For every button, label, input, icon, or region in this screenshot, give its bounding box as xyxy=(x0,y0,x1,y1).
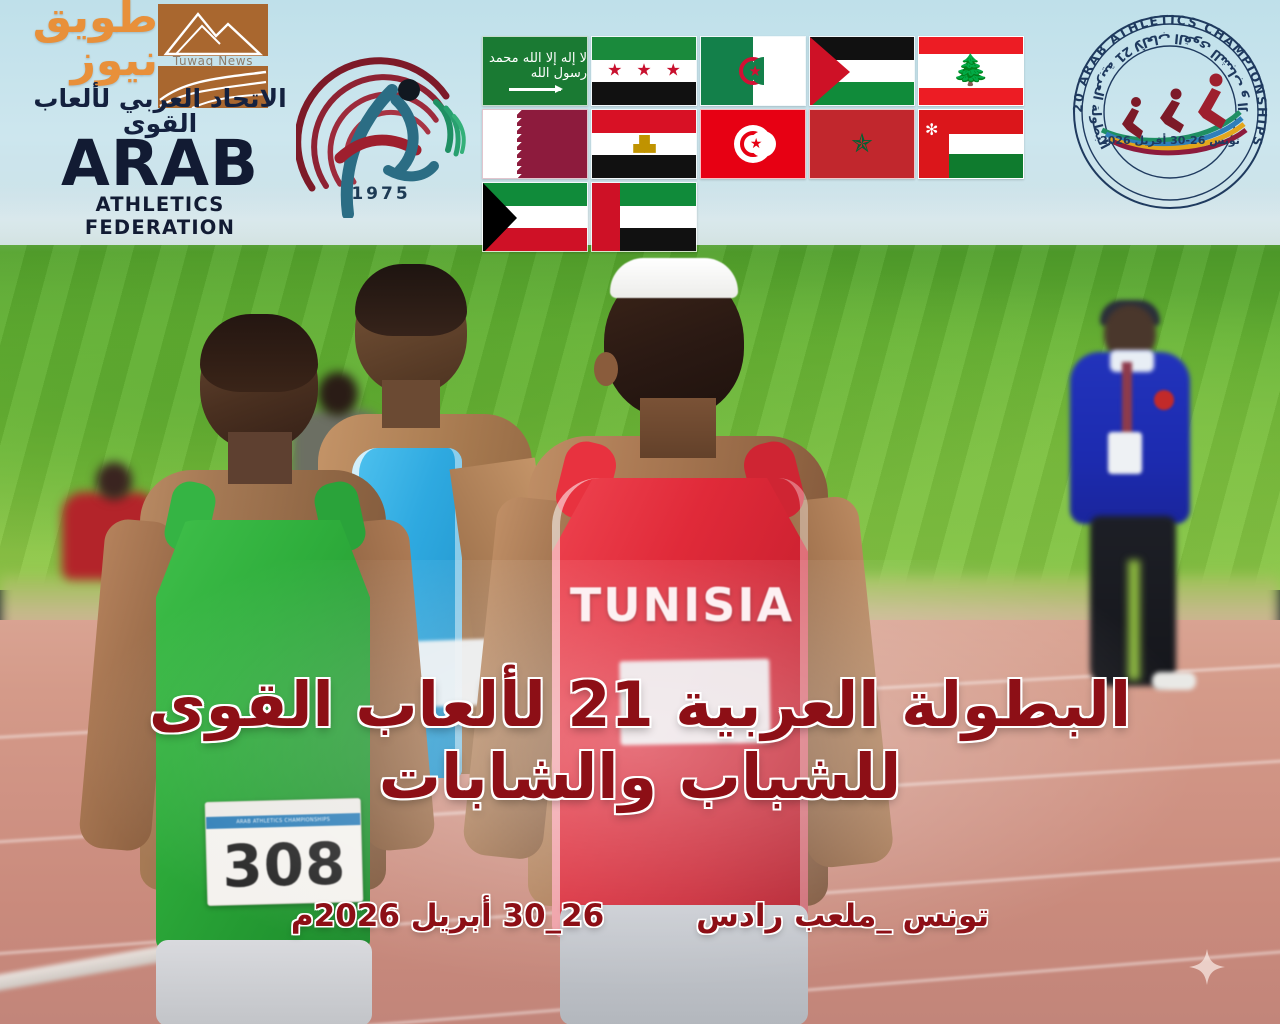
event-dates: 26_30 أبريل 2026م xyxy=(291,898,604,934)
championship-poster: EGYPT ARAB ATHLETICS CHAMPIONSHIPS 308 T… xyxy=(0,0,1280,1024)
athlete-tunisia-ear xyxy=(594,352,618,386)
flag-qatar-serration xyxy=(511,110,525,178)
roundel-center-date: تونس 26-30 أفريل 2026 xyxy=(1064,134,1276,147)
sparkle-star-icon xyxy=(1188,948,1226,986)
event-details: تونس _ملعب رادس 26_30 أبريل 2026م xyxy=(0,898,1280,934)
flag-syria-stars: ★★★ xyxy=(592,63,696,80)
flag-morocco-pentagram: ✯ xyxy=(851,131,873,157)
poster-title-line1: البطولة العربية 21 لألعاب القوى xyxy=(0,672,1280,738)
cedar-tree-icon: 🌲 xyxy=(952,56,989,86)
athlete-swoosh-icon: 1975 xyxy=(296,38,466,218)
championship-roundel-logo: U20 ARAB ATHLETICS CHAMPIONSHIPS البطولة… xyxy=(1064,6,1276,218)
flag-egypt: ▟▙ xyxy=(591,109,697,179)
athlete-green-neck xyxy=(228,432,292,484)
official-leg-gap xyxy=(1128,560,1140,680)
flag-row: ▟▙ ★ ✯ ✻ xyxy=(482,109,1036,179)
flag-algeria-star: ★ xyxy=(748,62,761,80)
athlete-egypt-neck xyxy=(382,380,440,428)
roundel-svg: U20 ARAB ATHLETICS CHAMPIONSHIPS البطولة… xyxy=(1064,6,1276,218)
flag-kuwait-trapezoid xyxy=(483,183,517,252)
athlete-green-hair xyxy=(200,314,318,392)
flag-saudi-sword xyxy=(509,88,561,91)
flag-oman: ✻ xyxy=(918,109,1024,179)
flag-saudi-arabia: لا إله إلا الله محمد رسول الله xyxy=(482,36,588,106)
federation-english-name: ARAB xyxy=(18,137,302,191)
mountain-icon xyxy=(158,4,268,56)
brand-arabic-line2: نيوز xyxy=(8,39,158,84)
mountain-icon-svg xyxy=(158,4,268,56)
race-bib-number-panel: ARAB ATHLETICS CHAMPIONSHIPS 308 xyxy=(205,798,364,906)
federation-founding-year: 1975 xyxy=(296,184,466,204)
bib-number: 308 xyxy=(206,825,362,905)
athlete-tunisia-headband xyxy=(610,258,738,298)
brand-latin-label: Tuwaq News xyxy=(158,54,268,70)
participating-nations-flags: لا إله إلا الله محمد رسول الله ★★★ ★ xyxy=(482,36,1036,255)
athlete-tunisia-country-label: TUNISIA xyxy=(560,578,804,632)
seated-spectator xyxy=(96,462,132,500)
event-venue: تونس _ملعب رادس xyxy=(696,898,989,934)
flag-lebanon: 🌲 xyxy=(918,36,1024,106)
flag-morocco: ✯ xyxy=(809,109,915,179)
poster-title-line2: للشباب والشابات xyxy=(0,744,1280,810)
official-badge-emblem xyxy=(1154,390,1174,410)
bib-event-text: ARAB ATHLETICS CHAMPIONSHIPS xyxy=(236,817,330,825)
flag-syria: ★★★ xyxy=(591,36,697,106)
poster-title: البطولة العربية 21 لألعاب القوى للشباب و… xyxy=(0,672,1280,809)
khanjar-icon: ✻ xyxy=(925,120,938,139)
official-lanyard xyxy=(1122,362,1132,436)
flag-tunisia-star: ★ xyxy=(750,136,763,152)
flag-row: لا إله إلا الله محمد رسول الله ★★★ ★ xyxy=(482,36,1036,106)
athlete-egypt-hair xyxy=(355,264,467,336)
flag-palestine-triangle xyxy=(810,37,850,106)
official-collar xyxy=(1110,350,1154,372)
flag-united-arab-emirates xyxy=(591,182,697,252)
flag-kuwait xyxy=(482,182,588,252)
flag-saudi-shahada: لا إله إلا الله محمد رسول الله xyxy=(483,51,587,81)
flag-tunisia: ★ xyxy=(700,109,806,179)
brand-arabic-wordmark: طويق نيوز xyxy=(8,0,158,84)
federation-english-subtitle: ATHLETICS FEDERATION xyxy=(18,193,302,239)
flag-row xyxy=(482,182,1036,252)
athlete-green-shorts xyxy=(156,940,372,1024)
background-person xyxy=(318,372,358,416)
athlete-tunisia-neck xyxy=(640,398,716,458)
flag-palestine xyxy=(809,36,915,106)
sparkle-star-svg xyxy=(1188,948,1226,986)
arab-athletics-federation-lockup: الاتحاد العربي لألعاب القوى ARAB ATHLETI… xyxy=(18,86,302,239)
official-accreditation-badge xyxy=(1108,432,1142,474)
flag-qatar xyxy=(482,109,588,179)
flag-algeria: ★ xyxy=(700,36,806,106)
eagle-of-saladin-icon: ▟▙ xyxy=(633,135,654,153)
